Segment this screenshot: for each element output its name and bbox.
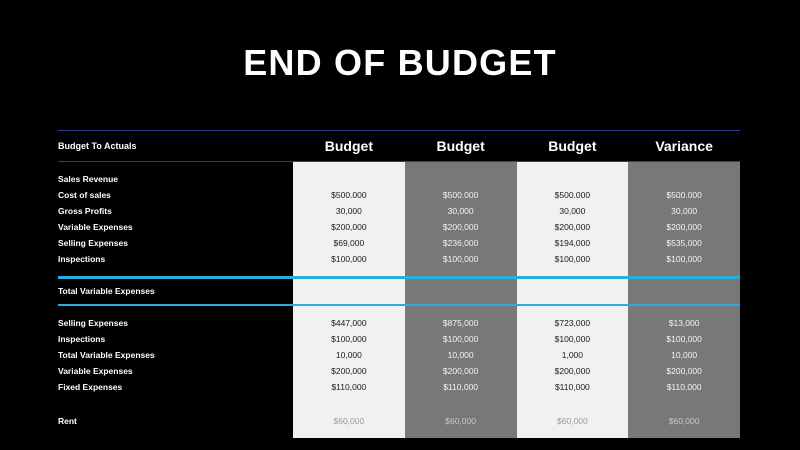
row-value [293,171,405,187]
column-header-1: Budget [293,131,405,162]
row-label: Selling Expenses [58,315,293,331]
gap-label-cell [58,404,293,413]
row-value: 30,000 [517,203,629,219]
row-value: $500.000 [405,187,517,203]
gap-cell-4 [628,306,740,315]
row-value: $200,000 [293,219,405,235]
row-label: Sales Revenue [58,171,293,187]
band-value [517,279,629,304]
row-value: $236,000 [405,235,517,251]
gap-cell-1 [293,162,405,172]
row-value: $200,000 [517,363,629,379]
row-value: 10,000 [628,347,740,363]
table-header-row: Budget To Actuals Budget Budget Budget V… [58,131,740,162]
row-value: $723,000 [517,315,629,331]
row-value: $100,000 [405,251,517,267]
row-value: $500.000 [517,187,629,203]
row-value: $200,000 [628,219,740,235]
gap-cell-2 [405,306,517,315]
row-value: $60,000 [628,413,740,429]
row-label: Total Variable Expenses [58,347,293,363]
table-row: Inspections $100,000 $100,000 $100,000 $… [58,251,740,267]
row-value: $100,000 [293,331,405,347]
gap-cell-1 [293,267,405,276]
gap-cell-4 [628,267,740,276]
footer-top-gap [58,395,740,404]
gap-cell-2 [405,162,517,172]
band-value [293,279,405,304]
row-label: Gross Profits [58,203,293,219]
table-row: Selling Expenses $69,000 $236,000 $194,0… [58,235,740,251]
row-value: $110,000 [517,379,629,395]
row-value: 10,000 [293,347,405,363]
row-value: $100,000 [293,251,405,267]
table-row: Total Variable Expenses 10,000 10,000 1,… [58,347,740,363]
gap-cell-1 [293,429,405,438]
row-value [405,171,517,187]
gap-cell-3 [517,267,629,276]
column-header-2: Budget [405,131,517,162]
band-label: Total Variable Expenses [58,279,293,304]
table-row: Inspections $100,000 $100,000 $100,000 $… [58,331,740,347]
row-value: $535,000 [628,235,740,251]
row-value: 30,000 [628,203,740,219]
row-value: $110,000 [405,379,517,395]
row-label: Cost of sales [58,187,293,203]
row-value: $500.000 [293,187,405,203]
budget-to-actuals-table: Budget To Actuals Budget Budget Budget V… [58,130,740,438]
footer-top-gap-2 [58,404,740,413]
row-label: Inspections [58,331,293,347]
gap-label-cell [58,162,293,172]
row-label: Rent [58,413,293,429]
gap-label-cell [58,429,293,438]
gap-cell-4 [628,395,740,404]
gap-cell-2 [405,429,517,438]
gap-cell-2 [405,267,517,276]
band-value [405,279,517,304]
row-value: $110,000 [628,379,740,395]
gap-label-cell [58,267,293,276]
row-value: $100,000 [517,251,629,267]
budget-table-container: Budget To Actuals Budget Budget Budget V… [58,130,740,438]
row-value: $60,000 [293,413,405,429]
row-value: $110,000 [293,379,405,395]
gap-cell-4 [628,404,740,413]
gap-cell-1 [293,306,405,315]
row-value: $60,000 [517,413,629,429]
row-value: $200,000 [293,363,405,379]
row-value: $194,000 [517,235,629,251]
row-value: $200,000 [628,363,740,379]
row-label: Variable Expenses [58,363,293,379]
gap-cell-4 [628,162,740,172]
row-value: $100,000 [405,331,517,347]
table-row: Variable Expenses $200,000 $200,000 $200… [58,363,740,379]
row-value: $100,000 [628,331,740,347]
row-label: Fixed Expenses [58,379,293,395]
row-value: $447,000 [293,315,405,331]
total-variable-expenses-band: Total Variable Expenses [58,279,740,304]
column-header-4: Variance [628,131,740,162]
row-value: 30,000 [293,203,405,219]
gap-cell-3 [517,404,629,413]
row-value: $875,000 [405,315,517,331]
row-value: 30,000 [405,203,517,219]
gap-cell-3 [517,429,629,438]
footer-bottom-gap [58,429,740,438]
header-label-budget-to-actuals: Budget To Actuals [58,131,293,162]
band-value [628,279,740,304]
row-value: $200,000 [405,219,517,235]
gap-cell-3 [517,306,629,315]
row-value: $13,000 [628,315,740,331]
gap-cell-3 [517,162,629,172]
row-value: $500.000 [628,187,740,203]
table-row-rent: Rent $60,000 $60,000 $60,000 $60,000 [58,413,740,429]
row-value: 10,000 [405,347,517,363]
block1-bottom-gap [58,267,740,276]
gap-label-cell [58,395,293,404]
block1-top-gap [58,162,740,172]
block2-top-gap [58,306,740,315]
row-value: $200,000 [517,219,629,235]
table-row: Fixed Expenses $110,000 $110,000 $110,00… [58,379,740,395]
gap-cell-1 [293,395,405,404]
row-value: 1,000 [517,347,629,363]
row-value: $200,000 [405,363,517,379]
row-value [517,171,629,187]
row-value: $69,000 [293,235,405,251]
row-value: $100,000 [628,251,740,267]
row-label: Inspections [58,251,293,267]
slide-canvas: END OF BUDGET Budget To Actuals Budget B… [0,0,800,450]
gap-label-cell [58,306,293,315]
table-row: Selling Expenses $447,000 $875,000 $723,… [58,315,740,331]
gap-cell-3 [517,395,629,404]
column-header-3: Budget [517,131,629,162]
table-row: Gross Profits 30,000 30,000 30,000 30,00… [58,203,740,219]
table-row: Cost of sales $500.000 $500.000 $500.000… [58,187,740,203]
row-value [628,171,740,187]
table-row: Sales Revenue [58,171,740,187]
table-row: Variable Expenses $200,000 $200,000 $200… [58,219,740,235]
gap-cell-2 [405,404,517,413]
row-value: $60,000 [405,413,517,429]
row-label: Variable Expenses [58,219,293,235]
page-title: END OF BUDGET [0,42,800,84]
gap-cell-2 [405,395,517,404]
row-label: Selling Expenses [58,235,293,251]
gap-cell-1 [293,404,405,413]
gap-cell-4 [628,429,740,438]
row-value: $100,000 [517,331,629,347]
